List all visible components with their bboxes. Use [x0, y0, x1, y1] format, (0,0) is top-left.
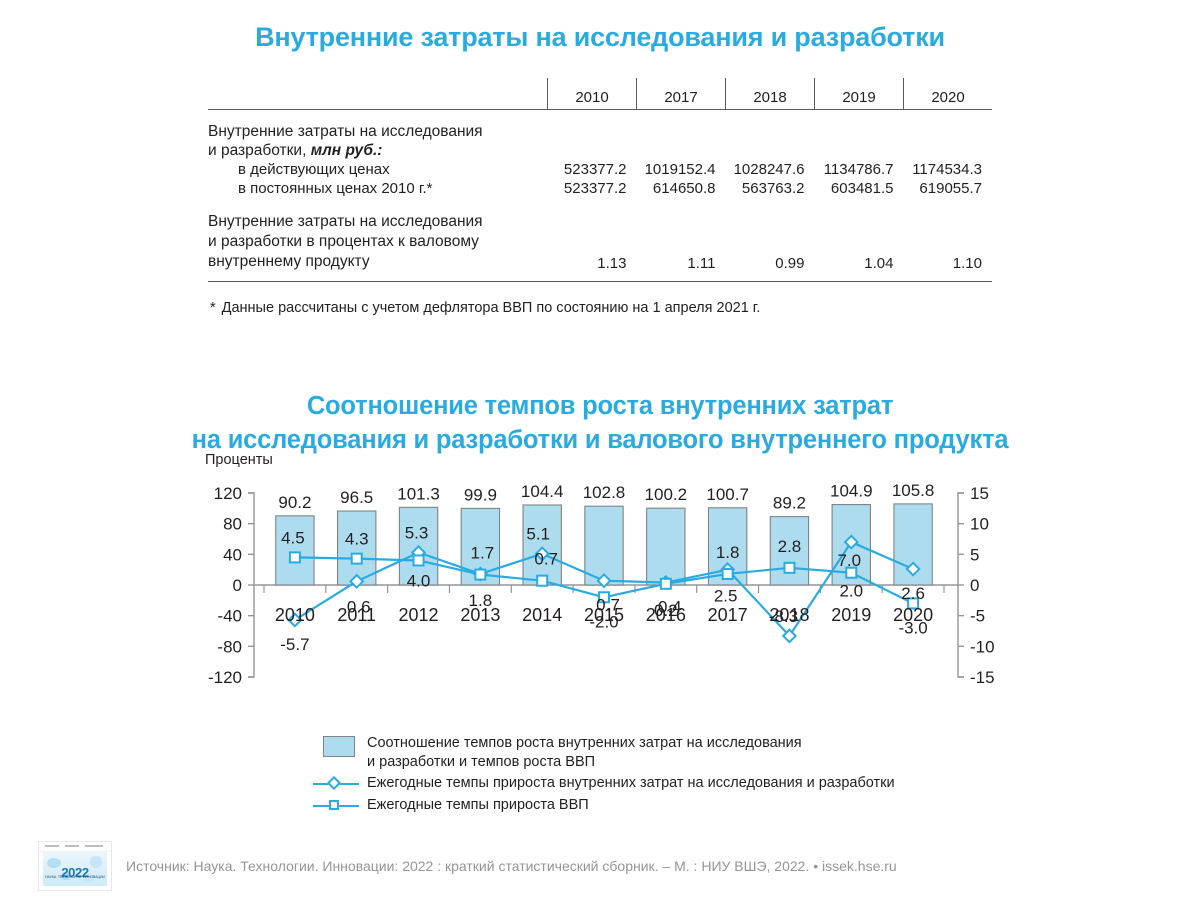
- cell-constant-prices-2019: 603481.5: [815, 179, 904, 198]
- right-axis-tick-label: -5: [970, 607, 985, 626]
- table-row: в постоянных ценах 2010 г.* 523377.2 614…: [208, 179, 992, 198]
- bar-value-label: 90.2: [278, 493, 311, 512]
- gdp-growth-point-label: 4.0: [407, 571, 431, 590]
- category-label-2018: 2018: [769, 605, 809, 625]
- bar-value-label: 102.8: [583, 483, 626, 502]
- square-marker-icon: [475, 570, 485, 580]
- legend-item-gdp-growth[interactable]: Ежегодные темпы прироста ВВП: [311, 796, 1011, 815]
- legend-key-diamond: [311, 774, 367, 792]
- right-axis-tick-label: 5: [970, 545, 979, 564]
- section2-caption-line2: и разработки в процентах к валовому: [208, 233, 479, 250]
- category-label-2016: 2016: [646, 605, 686, 625]
- cell-gdp-share-2017: 1.11: [637, 212, 726, 282]
- gdp-growth-point-label: 1.8: [716, 543, 740, 562]
- table-header-blank: [208, 78, 548, 110]
- table-spacer-row: [208, 198, 992, 212]
- rnd-growth-point-label: 7.0: [837, 551, 861, 570]
- chart-bar[interactable]: [276, 516, 314, 585]
- category-label-2012: 2012: [399, 605, 439, 625]
- diamond-line-icon: [313, 776, 359, 792]
- section2-caption-line1: Внутренние затраты на исследования: [208, 213, 483, 230]
- growth-ratio-chart: Проценты12080400-40-80-120151050-5-10-15…: [0, 450, 1200, 740]
- square-marker-icon: [723, 569, 733, 579]
- bar-swatch-icon: [323, 736, 355, 757]
- category-label-2014: 2014: [522, 605, 562, 625]
- legend-item-bar[interactable]: Соотношение темпов роста внутренних затр…: [311, 734, 1011, 771]
- cell-constant-prices-2017: 614650.8: [637, 179, 726, 198]
- right-axis-tick-label: 0: [970, 576, 979, 595]
- category-label-2020: 2020: [893, 605, 933, 625]
- table-header-year-2018: 2018: [726, 78, 815, 110]
- cell-constant-prices-2020: 619055.7: [904, 179, 993, 198]
- legend-item-rnd-growth[interactable]: Ежегодные темпы прироста внутренних затр…: [311, 774, 1011, 793]
- chart-bar[interactable]: [523, 505, 561, 585]
- left-axis-tick-label: 80: [223, 515, 242, 534]
- chart-title-line1: Соотношение темпов роста внутренних затр…: [0, 389, 1200, 423]
- bar-value-label: 104.4: [521, 482, 564, 501]
- table-row-section2: Внутренние затраты на исследования и раз…: [208, 212, 992, 282]
- left-axis-tick-label: 120: [214, 484, 242, 503]
- square-marker-icon: [329, 800, 339, 810]
- footer: 2022 НАУКА. ТЕХНОЛОГИИ. ИННОВАЦИИ Источн…: [0, 832, 1200, 900]
- table-footnote: *Данные рассчитаны с учетом дефлятора ВВ…: [210, 300, 760, 316]
- cover-top-strip: [39, 842, 111, 852]
- legend-key-bar: [311, 734, 367, 757]
- bar-value-label: 89.2: [773, 494, 806, 513]
- table-row: в действующих ценах 523377.2 1019152.4 1…: [208, 160, 992, 179]
- gdp-growth-point-label: 2.0: [839, 582, 863, 601]
- right-axis-tick-label: 10: [970, 515, 989, 534]
- table-header-year-2010: 2010: [548, 78, 637, 110]
- square-line-icon: [313, 798, 359, 814]
- legend-label-rnd-growth: Ежегодные темпы прироста внутренних затр…: [367, 774, 895, 793]
- table-header-year-2017: 2017: [637, 78, 726, 110]
- chart-legend: Соотношение темпов роста внутренних затр…: [311, 734, 1011, 817]
- cover-body: 2022 НАУКА. ТЕХНОЛОГИИ. ИННОВАЦИИ: [43, 852, 107, 886]
- gdp-growth-point-label: 2.8: [778, 537, 802, 556]
- category-label-2015: 2015: [584, 605, 624, 625]
- square-marker-icon: [352, 554, 362, 564]
- bar-value-label: 105.8: [892, 481, 935, 500]
- gdp-growth-point-label: 1.7: [471, 544, 495, 563]
- category-label-2013: 2013: [460, 605, 500, 625]
- diamond-marker-icon: [327, 776, 341, 790]
- cell-current-prices-2020: 1174534.3: [904, 160, 993, 179]
- table-header-year-2020: 2020: [904, 78, 993, 110]
- bar-value-label: 100.2: [645, 485, 688, 504]
- rnd-growth-point-label: -5.7: [280, 635, 309, 654]
- gdp-growth-point-label: 4.5: [281, 528, 305, 547]
- left-axis-tick-label: -40: [217, 607, 242, 626]
- bar-value-label: 96.5: [340, 488, 373, 507]
- square-marker-icon: [537, 576, 547, 586]
- legend-label-bar: Соотношение темпов роста внутренних затр…: [367, 734, 802, 771]
- expenditures-table: 2010 2017 2018 2019 2020 Внутренние затр…: [208, 78, 992, 282]
- legend-label-gdp-growth: Ежегодные темпы прироста ВВП: [367, 796, 589, 815]
- section1-caption: Внутренние затраты на исследования и раз…: [208, 110, 548, 161]
- cell-gdp-share-2010: 1.13: [548, 212, 637, 282]
- right-axis-tick-label: -15: [970, 668, 995, 687]
- left-axis-tick-label: -120: [208, 668, 242, 687]
- table-header-row: 2010 2017 2018 2019 2020: [208, 78, 992, 110]
- cell-gdp-share-2020: 1.10: [904, 212, 993, 282]
- rnd-growth-point-label: 2.5: [714, 587, 738, 606]
- right-axis-tick-label: -10: [970, 637, 995, 656]
- chart-axis-title-percent: Проценты: [205, 452, 273, 468]
- bar-value-label: 99.9: [464, 485, 497, 504]
- cover-subtitle: НАУКА. ТЕХНОЛОГИИ. ИННОВАЦИИ: [43, 875, 107, 879]
- legend-label-bar-line2: и разработки и темпов роста ВВП: [367, 754, 595, 770]
- table-row-section1-caption: Внутренние затраты на исследования и раз…: [208, 110, 992, 161]
- left-axis-tick-label: 40: [223, 545, 242, 564]
- section2-caption: Внутренние затраты на исследования и раз…: [208, 212, 548, 282]
- left-axis-tick-label: -80: [217, 637, 242, 656]
- category-label-2011: 2011: [337, 605, 376, 625]
- rnd-growth-point-label: 5.3: [405, 523, 429, 542]
- section1-caption-line2-italic: млн руб.:: [311, 142, 383, 159]
- legend-key-square: [311, 796, 367, 814]
- page-title-expenditures: Внутренние затраты на исследования и раз…: [0, 22, 1200, 53]
- cell-gdp-share-2019: 1.04: [815, 212, 904, 282]
- square-marker-icon: [784, 563, 794, 573]
- right-axis-tick-label: 15: [970, 484, 989, 503]
- gdp-growth-point-label: 4.3: [345, 530, 369, 549]
- square-marker-icon: [290, 552, 300, 562]
- cell-constant-prices-2010: 523377.2: [548, 179, 637, 198]
- publication-cover-thumbnail: 2022 НАУКА. ТЕХНОЛОГИИ. ИННОВАЦИИ: [38, 841, 112, 891]
- rnd-growth-point-label: 5.1: [526, 525, 550, 544]
- bar-value-label: 104.9: [830, 482, 873, 501]
- gdp-growth-point-label: 0.7: [534, 550, 558, 569]
- cell-current-prices-2010: 523377.2: [548, 160, 637, 179]
- row-label-constant-prices: в постоянных ценах 2010 г.*: [208, 179, 548, 198]
- legend-label-bar-line1: Соотношение темпов роста внутренних затр…: [367, 735, 802, 751]
- footnote-text: Данные рассчитаны с учетом дефлятора ВВП…: [222, 300, 761, 316]
- cell-constant-prices-2018: 563763.2: [726, 179, 815, 198]
- cell-current-prices-2017: 1019152.4: [637, 160, 726, 179]
- bar-value-label: 101.3: [397, 484, 440, 503]
- cell-current-prices-2019: 1134786.7: [815, 160, 904, 179]
- category-label-2010: 2010: [275, 605, 315, 625]
- row-label-current-prices: в действующих ценах: [208, 160, 548, 179]
- section1-caption-line1: Внутренние затраты на исследования: [208, 123, 483, 140]
- section1-caption-line2-bold: и разработки,: [208, 142, 306, 159]
- bar-value-label: 100.7: [706, 485, 749, 504]
- footnote-asterisk: *: [210, 300, 216, 316]
- cell-gdp-share-2018: 0.99: [726, 212, 815, 282]
- rnd-growth-point-label: 2.6: [901, 584, 925, 603]
- cell-current-prices-2018: 1028247.6: [726, 160, 815, 179]
- chart-title: Соотношение темпов роста внутренних затр…: [0, 389, 1200, 457]
- category-label-2017: 2017: [708, 605, 748, 625]
- square-marker-icon: [414, 555, 424, 565]
- section2-caption-line3: внутреннему продукту: [208, 253, 370, 270]
- category-label-2019: 2019: [831, 605, 871, 625]
- left-axis-tick-label: 0: [233, 576, 242, 595]
- square-marker-icon: [661, 579, 671, 589]
- chart-svg: Проценты12080400-40-80-120151050-5-10-15…: [0, 450, 1200, 740]
- source-line: Источник: Наука. Технологии. Инновации: …: [126, 858, 897, 874]
- table-header-year-2019: 2019: [815, 78, 904, 110]
- chart-bar[interactable]: [647, 508, 685, 585]
